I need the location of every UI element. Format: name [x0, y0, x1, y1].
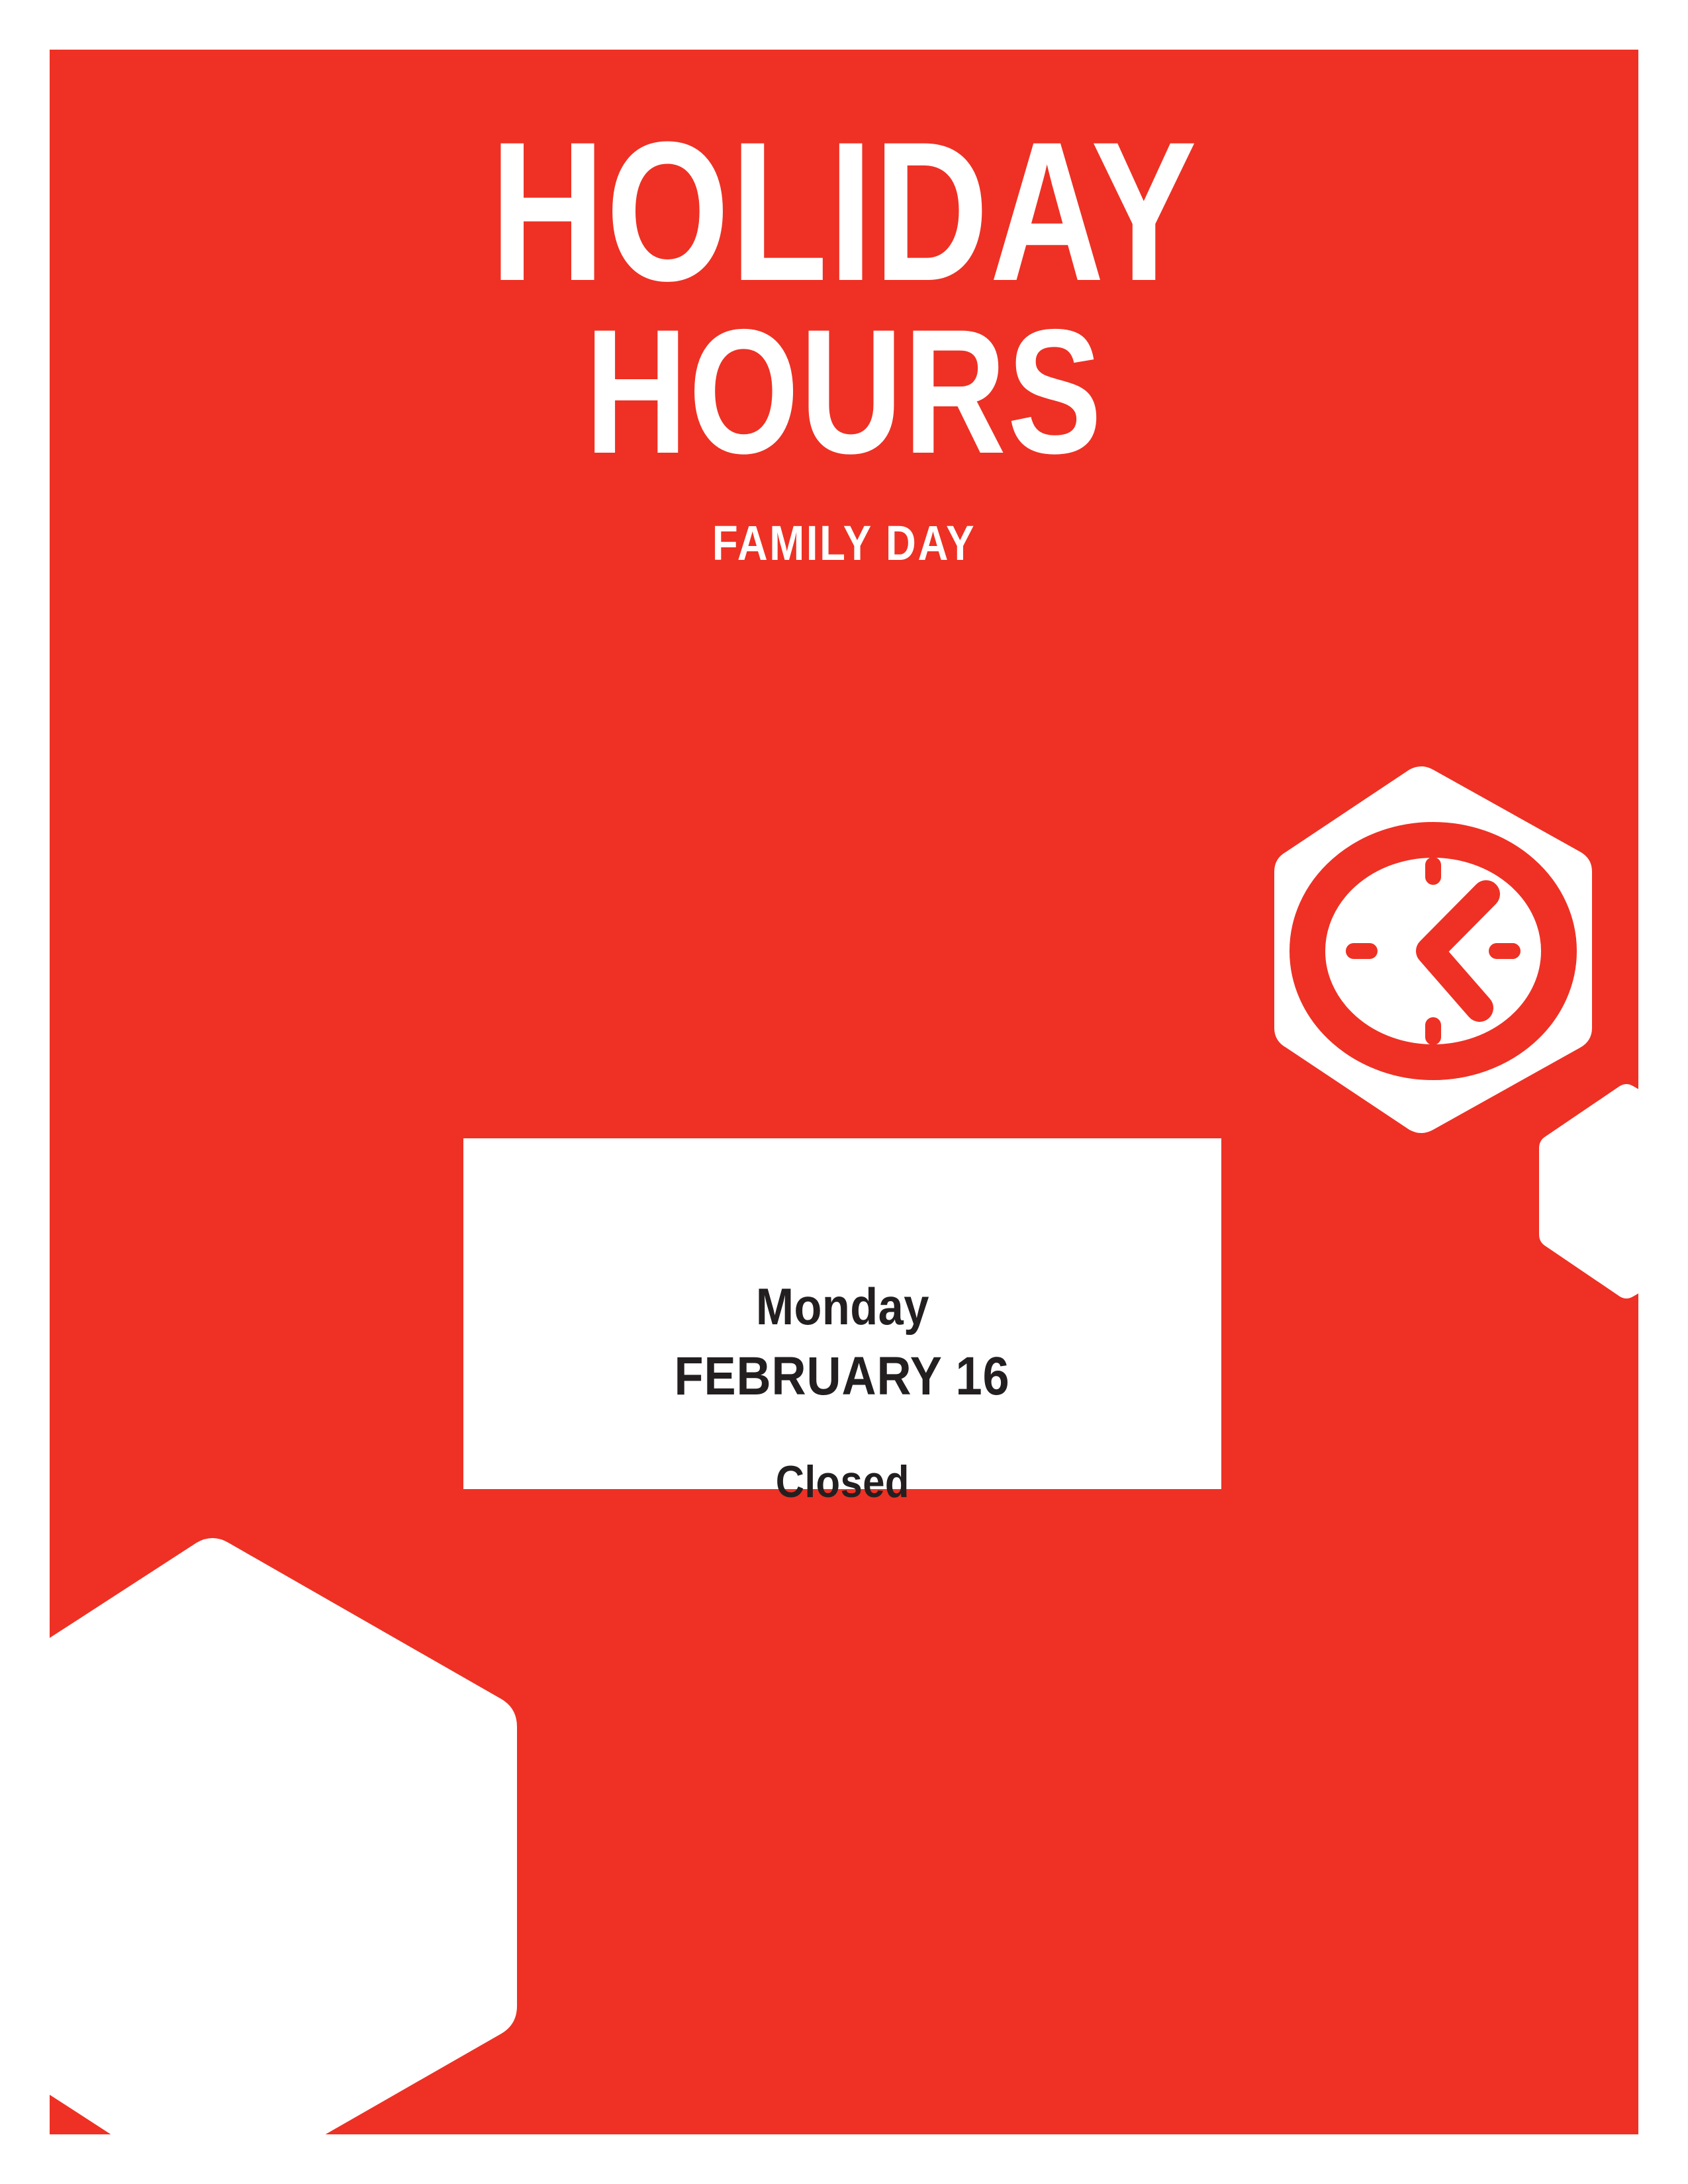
page-subtitle: FAMILY DAY — [161, 515, 1527, 571]
headline-block: HOLIDAY HOURS FAMILY DAY — [50, 119, 1638, 571]
hexagon-shape-bottom-accent — [50, 1532, 526, 2134]
card-date-label: FEBRUARY 16 — [675, 1349, 1010, 1404]
holiday-hours-poster: HOLIDAY HOURS FAMILY DAY — [0, 0, 1688, 2184]
card-day-label: Monday — [756, 1281, 929, 1332]
red-background-panel: HOLIDAY HOURS FAMILY DAY — [50, 50, 1638, 2134]
clock-icon — [1268, 764, 1599, 1135]
hours-info-card: Monday FEBRUARY 16 Closed — [463, 1138, 1221, 1489]
page-title-line-2: HOURS — [209, 309, 1479, 474]
clock-hexagon-badge — [1268, 764, 1599, 1135]
status-badge: Closed — [775, 1459, 909, 1504]
hexagon-shape-icon — [50, 1532, 526, 2134]
page-title-line-1: HOLIDAY — [209, 119, 1479, 304]
